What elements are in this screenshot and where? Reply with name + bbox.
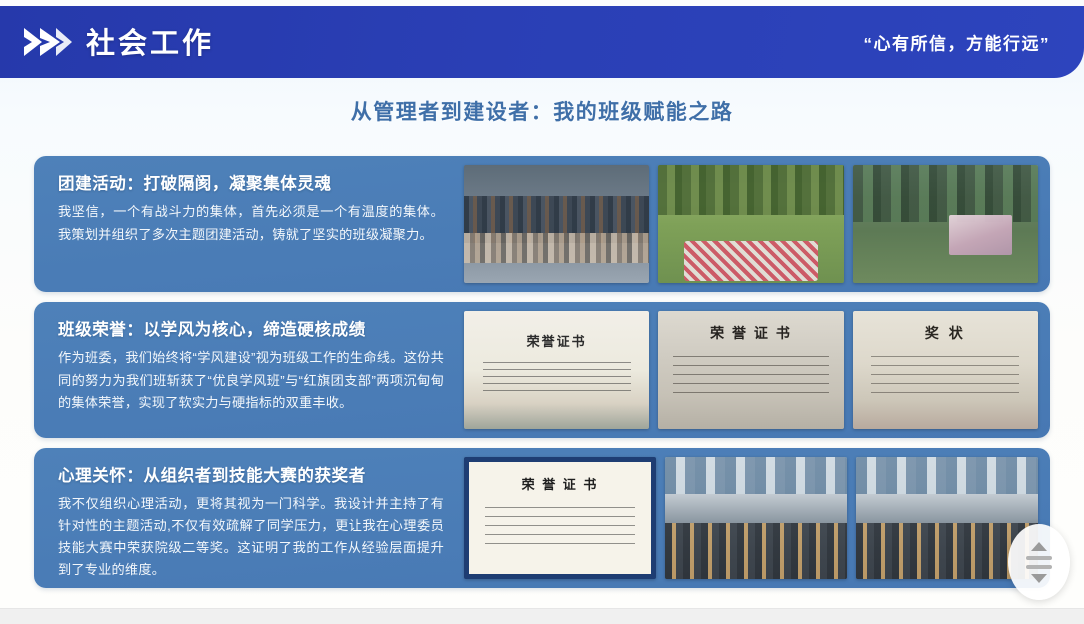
drag-handle-icon[interactable] <box>1026 556 1052 560</box>
content-card[interactable]: 班级荣誉：以学风为核心，缔造硬核成绩 作为班委，我们始终将“学风建设”视为班级工… <box>34 302 1050 438</box>
drag-handle-icon[interactable] <box>1026 565 1052 569</box>
card-list: 团建活动：打破隔阂，凝聚集体灵魂 我坚信，一个有战斗力的集体，首先必须是一个有温… <box>34 156 1050 598</box>
card-text-block: 班级荣誉：以学风为核心，缔造硬核成绩 作为班委，我们始终将“学风建设”视为班级工… <box>34 302 464 438</box>
certificate-thumbnail[interactable] <box>464 457 656 579</box>
header-motto: “心有所信，方能行远” <box>864 30 1051 55</box>
triangle-down-icon[interactable] <box>1031 574 1047 583</box>
card-heading: 班级荣誉：以学风为核心，缔造硬核成绩 <box>58 316 444 340</box>
card-body: 我不仅组织心理活动，更将其视为一门科学。我设计并主持了有针对性的主题活动,不仅有… <box>58 493 444 581</box>
content-card[interactable]: 心理关怀：从组织者到技能大赛的获奖者 我不仅组织心理活动，更将其视为一门科学。我… <box>34 448 1050 588</box>
bottom-edge-strip <box>0 608 1084 624</box>
double-chevron-icon <box>22 25 74 59</box>
card-photo-strip <box>464 156 1050 292</box>
triangle-up-icon[interactable] <box>1031 542 1047 551</box>
card-body: 作为班委，我们始终将“学风建设”视为班级工作的生命线。这份共同的努力为我们班斩获… <box>58 347 444 415</box>
page-title: 社会工作 <box>86 20 214 62</box>
certificate-thumbnail[interactable] <box>658 311 843 429</box>
card-heading: 心理关怀：从组织者到技能大赛的获奖者 <box>58 462 444 486</box>
card-text-block: 团建活动：打破隔阂，凝聚集体灵魂 我坚信，一个有战斗力的集体，首先必须是一个有温… <box>34 156 464 292</box>
card-heading: 团建活动：打破隔阂，凝聚集体灵魂 <box>58 170 444 194</box>
card-body: 我坚信，一个有战斗力的集体，首先必须是一个有温度的集体。我策划并组织了多次主题团… <box>58 201 444 246</box>
card-photo-strip <box>464 302 1050 438</box>
certificate-thumbnail[interactable] <box>853 311 1038 429</box>
page-header: 社会工作 “心有所信，方能行远” <box>0 6 1084 78</box>
slide-canvas: 社会工作 “心有所信，方能行远” 从管理者到建设者：我的班级赋能之路 团建活动：… <box>0 0 1084 624</box>
scroll-control-fab[interactable] <box>1008 524 1070 600</box>
card-text-block: 心理关怀：从组织者到技能大赛的获奖者 我不仅组织心理活动，更将其视为一门科学。我… <box>34 448 464 588</box>
photo-thumbnail[interactable] <box>665 457 847 579</box>
top-edge-strip <box>0 0 1084 6</box>
card-photo-strip <box>464 448 1050 588</box>
photo-thumbnail[interactable] <box>658 165 843 283</box>
photo-thumbnail[interactable] <box>853 165 1038 283</box>
certificate-thumbnail[interactable] <box>464 311 649 429</box>
section-title: 从管理者到建设者：我的班级赋能之路 <box>0 96 1084 126</box>
content-card[interactable]: 团建活动：打破隔阂，凝聚集体灵魂 我坚信，一个有战斗力的集体，首先必须是一个有温… <box>34 156 1050 292</box>
photo-thumbnail[interactable] <box>464 165 649 283</box>
